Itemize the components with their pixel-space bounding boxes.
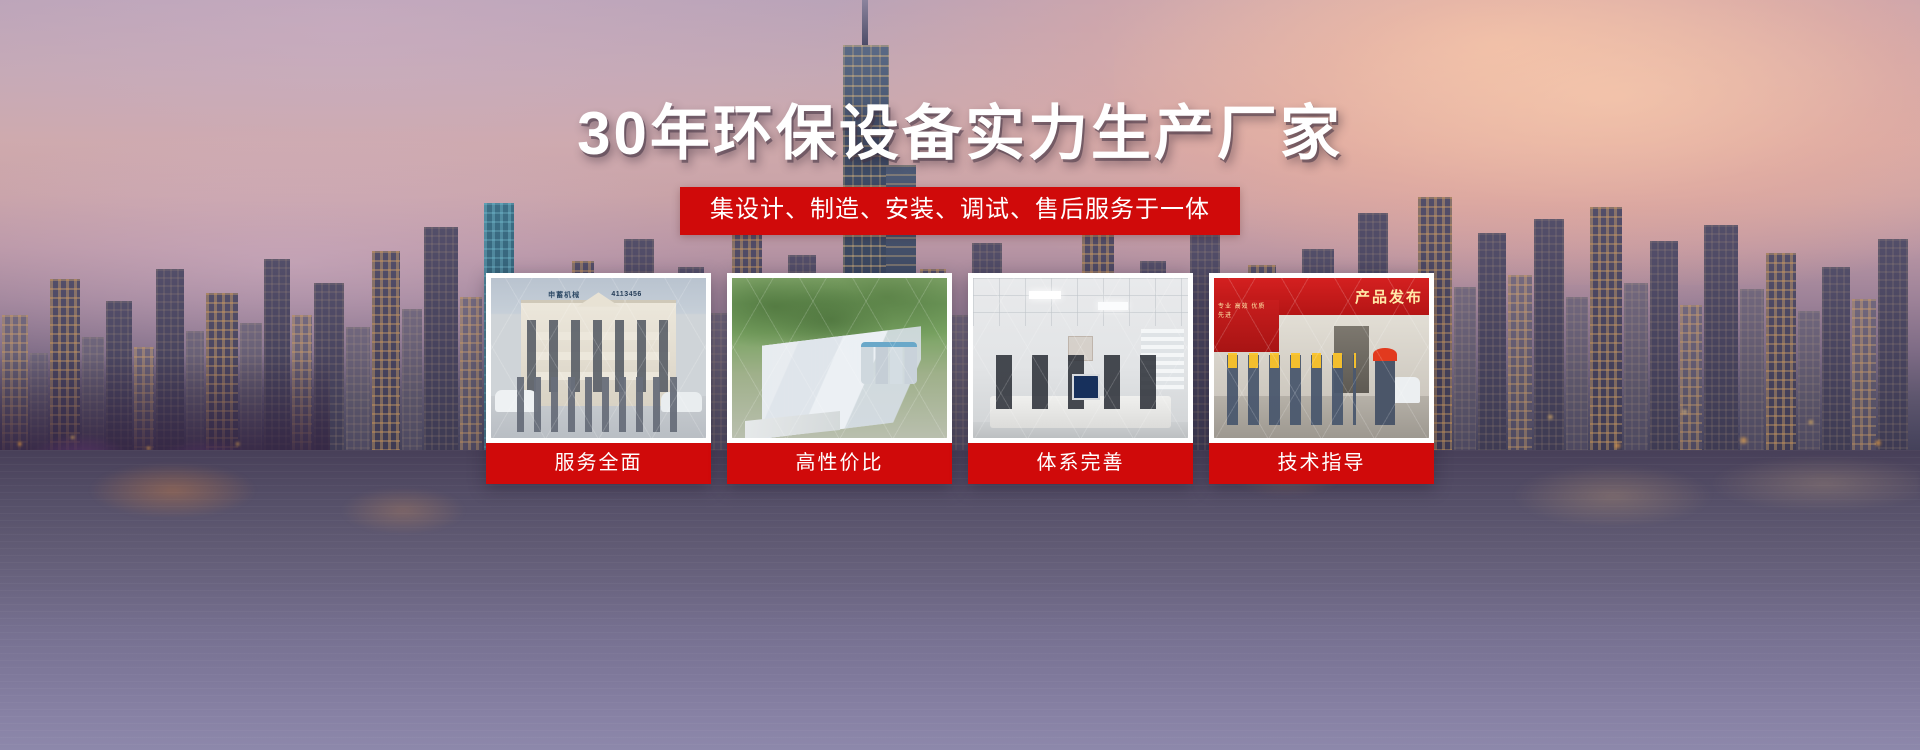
photo-silos (861, 342, 917, 384)
feature-card-list: 申蓄机械 4113456 服务全面 高性价比 (486, 273, 1434, 484)
photo-staff-lineup (513, 377, 685, 431)
feature-card[interactable]: 产品发布 专业 高效 优质 先进 技术指导 (1209, 273, 1434, 484)
photo-ceiling-light (1098, 302, 1128, 310)
photo-ceiling (973, 278, 1188, 326)
photo-monitor (1072, 374, 1100, 400)
feature-card[interactable]: 申蓄机械 4113456 服务全面 (486, 273, 711, 484)
photo-phone-number: 4113456 (611, 289, 676, 300)
photo-ceiling-light (1029, 291, 1061, 299)
feature-card-caption: 技术指导 (1209, 443, 1434, 484)
card-photo-factory-aerial (732, 278, 947, 438)
card-photo-meeting-room (973, 278, 1188, 438)
photo-red-side-banner: 专业 高效 优质 先进 (1214, 300, 1279, 351)
banner-content: 30年环保设备实力生产厂家 集设计、制造、安装、调试、售后服务于一体 申蓄机械 … (0, 0, 1920, 750)
feature-card[interactable]: 体系完善 (968, 273, 1193, 484)
feature-card-caption: 服务全面 (486, 443, 711, 484)
feature-card[interactable]: 高性价比 (727, 273, 952, 484)
card-photo-office-building: 申蓄机械 4113456 (491, 278, 706, 438)
hero-banner: 30年环保设备实力生产厂家 集设计、制造、安装、调试、售后服务于一体 申蓄机械 … (0, 0, 1920, 750)
photo-supervisor-helmet (1373, 348, 1397, 361)
feature-card-caption: 体系完善 (968, 443, 1193, 484)
card-photo-workshop: 产品发布 专业 高效 优质 先进 (1214, 278, 1429, 438)
feature-card-caption: 高性价比 (727, 443, 952, 484)
banner-subtitle-bar: 集设计、制造、安装、调试、售后服务于一体 (680, 187, 1240, 235)
photo-safety-helmets (1223, 353, 1356, 367)
photo-vehicle (1392, 377, 1420, 403)
banner-headline: 30年环保设备实力生产厂家 (577, 104, 1343, 164)
photo-supervisor (1375, 358, 1394, 425)
photo-company-sign: 申蓄机械 (538, 289, 590, 300)
